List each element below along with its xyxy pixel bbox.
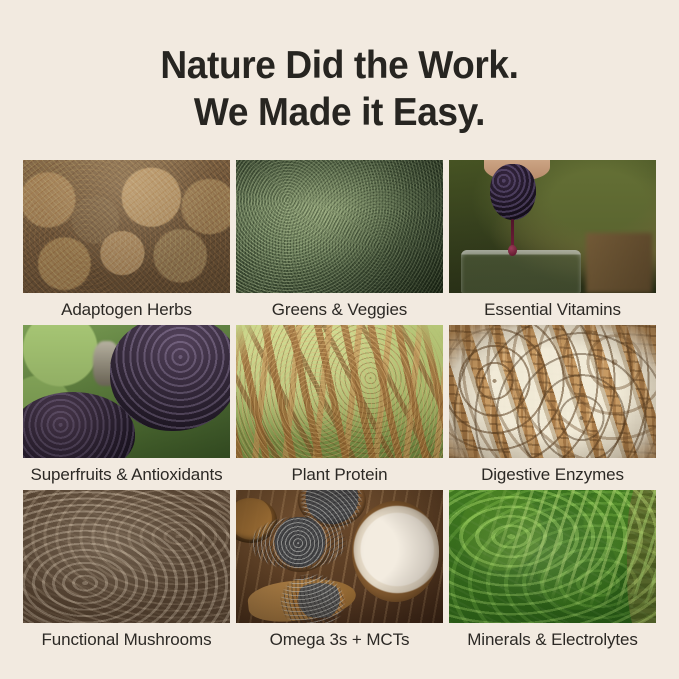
page-title: Nature Did the Work. We Made it Easy. bbox=[17, 42, 662, 136]
functional-mushrooms-photo bbox=[23, 490, 230, 623]
omega-3s-mcts-photo bbox=[236, 490, 443, 623]
product-ingredients-poster: Nature Did the Work. We Made it Easy. Ad… bbox=[0, 0, 679, 679]
adaptogen-herbs-photo bbox=[23, 160, 230, 293]
minerals-electrolytes-photo bbox=[449, 490, 656, 623]
ingredient-card-functional-mushrooms: Functional Mushrooms bbox=[23, 490, 230, 655]
ingredient-card-minerals-electrolytes: Minerals & Electrolytes bbox=[449, 490, 656, 655]
headline-line-1: Nature Did the Work. bbox=[17, 42, 662, 89]
essential-vitamins-photo bbox=[449, 160, 656, 293]
ingredient-caption: Plant Protein bbox=[216, 459, 463, 490]
ingredient-card-greens-veggies: Greens & Veggies bbox=[236, 160, 443, 325]
ingredient-card-essential-vitamins: Essential Vitamins bbox=[449, 160, 656, 325]
plant-protein-photo bbox=[236, 325, 443, 458]
ingredient-caption: Superfruits & Antioxidants bbox=[3, 459, 250, 490]
ingredient-card-adaptogen-herbs: Adaptogen Herbs bbox=[23, 160, 230, 325]
ingredient-caption: Digestive Enzymes bbox=[429, 459, 676, 490]
headline-line-2: We Made it Easy. bbox=[17, 89, 662, 136]
ingredient-card-omega-3s-mcts: Omega 3s + MCTs bbox=[236, 490, 443, 655]
ingredient-grid: Adaptogen Herbs Greens & Veggies bbox=[23, 160, 657, 655]
ingredient-caption: Omega 3s + MCTs bbox=[216, 624, 463, 655]
superfruits-antioxidants-photo bbox=[23, 325, 230, 458]
ingredient-card-digestive-enzymes: Digestive Enzymes bbox=[449, 325, 656, 490]
ingredient-caption: Adaptogen Herbs bbox=[3, 294, 250, 325]
ingredient-caption: Essential Vitamins bbox=[429, 294, 676, 325]
ingredient-caption: Functional Mushrooms bbox=[3, 624, 250, 655]
ingredient-card-plant-protein: Plant Protein bbox=[236, 325, 443, 490]
digestive-enzymes-photo bbox=[449, 325, 656, 458]
ingredient-card-superfruits-antioxidants: Superfruits & Antioxidants bbox=[23, 325, 230, 490]
greens-veggies-photo bbox=[236, 160, 443, 293]
ingredient-caption: Minerals & Electrolytes bbox=[429, 624, 676, 655]
ingredient-caption: Greens & Veggies bbox=[216, 294, 463, 325]
